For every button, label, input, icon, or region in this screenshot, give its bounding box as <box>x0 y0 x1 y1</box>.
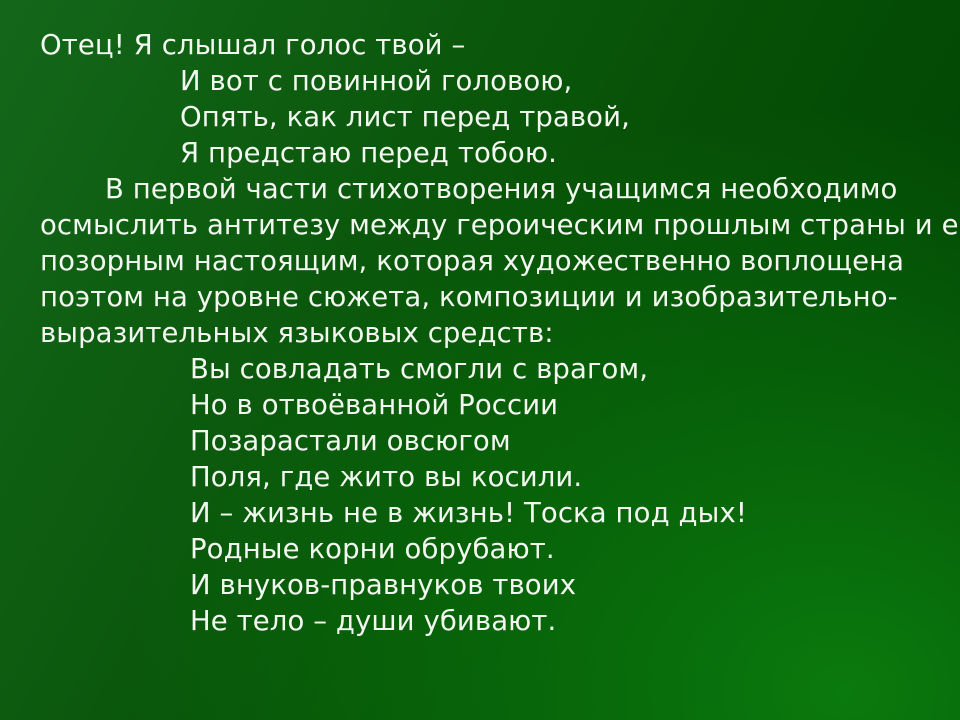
stanza-two: Вы совладать смогли с врагом, Но в отвоё… <box>0 351 960 639</box>
stanza-two-line-5: И – жизнь не в жизнь! Тоска под дых! <box>0 495 960 531</box>
stanza-one-line-4: Я предстаю перед тобою. <box>0 135 960 171</box>
prose-line-2: осмыслить антитезу между героическим про… <box>40 207 940 243</box>
stanza-two-line-4: Поля, где жито вы косили. <box>0 459 960 495</box>
stanza-two-line-1: Вы совладать смогли с врагом, <box>0 351 960 387</box>
stanza-two-line-3: Позарастали овсюгом <box>0 423 960 459</box>
prose-line-4: поэтом на уровне сюжета, композиции и из… <box>40 279 940 315</box>
stanza-two-line-2: Но в отвоёванной России <box>0 387 960 423</box>
prose-line-3: позорным настоящим, которая художественн… <box>40 243 940 279</box>
prose-line-1: В первой части стихотворения учащимся не… <box>40 171 940 207</box>
stanza-two-line-7: И внуков-правнуков твоих <box>0 567 960 603</box>
prose-line-5: выразительных языковых средств: <box>40 315 940 351</box>
stanza-two-line-6: Родные корни обрубают. <box>0 531 960 567</box>
prose-paragraph: В первой части стихотворения учащимся не… <box>0 171 960 351</box>
stanza-one: Отец! Я слышал голос твой – И вот с пови… <box>0 27 960 171</box>
stanza-one-line-3: Опять, как лист перед травой, <box>0 99 960 135</box>
slide-content: Отец! Я слышал голос твой – И вот с пови… <box>0 0 960 639</box>
stanza-two-line-8: Не тело – души убивают. <box>0 603 960 639</box>
stanza-one-line-1: Отец! Я слышал голос твой – <box>0 27 960 63</box>
stanza-one-line-2: И вот с повинной головою, <box>0 63 960 99</box>
slide-canvas: Отец! Я слышал голос твой – И вот с пови… <box>0 0 960 720</box>
